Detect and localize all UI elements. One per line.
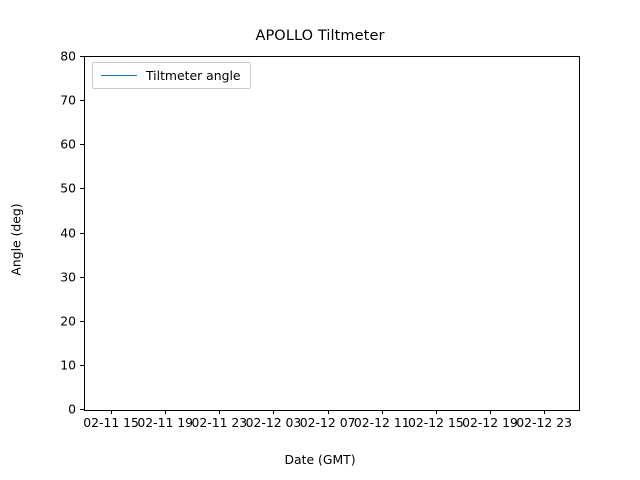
x-tick-mark bbox=[165, 410, 166, 414]
x-tick-mark bbox=[544, 410, 545, 414]
x-tick-mark bbox=[273, 410, 274, 414]
chart-title: APOLLO Tiltmeter bbox=[0, 28, 640, 44]
x-tick-label: 02-12 07 bbox=[300, 415, 356, 430]
y-axis-label: Angle (deg) bbox=[9, 140, 24, 340]
y-tick-mark bbox=[80, 100, 84, 101]
y-tick-label: 50 bbox=[60, 181, 76, 196]
x-tick-label: 02-12 11 bbox=[354, 415, 410, 430]
y-tick-label: 30 bbox=[60, 269, 76, 284]
y-tick-label: 80 bbox=[60, 49, 76, 64]
y-tick-mark bbox=[80, 365, 84, 366]
chart-legend: Tiltmeter angle bbox=[92, 62, 251, 89]
x-tick-label: 02-12 03 bbox=[246, 415, 302, 430]
x-tick-label: 02-12 19 bbox=[462, 415, 518, 430]
y-axis-tick-labels: 01020304050607080 bbox=[40, 0, 76, 480]
x-tick-label: 02-12 23 bbox=[516, 415, 572, 430]
y-tick-mark bbox=[80, 144, 84, 145]
y-tick-mark bbox=[80, 233, 84, 234]
plot-axes-frame bbox=[84, 56, 580, 411]
x-tick-mark bbox=[490, 410, 491, 414]
y-tick-mark bbox=[80, 277, 84, 278]
y-tick-label: 20 bbox=[60, 313, 76, 328]
x-tick-label: 02-11 23 bbox=[191, 415, 247, 430]
y-tick-label: 60 bbox=[60, 137, 76, 152]
legend-line-swatch bbox=[101, 75, 137, 76]
legend-entry-label: Tiltmeter angle bbox=[146, 68, 241, 83]
y-tick-label: 0 bbox=[68, 402, 76, 417]
x-tick-mark bbox=[328, 410, 329, 414]
x-tick-label: 02-11 19 bbox=[137, 415, 193, 430]
y-tick-mark bbox=[80, 409, 84, 410]
x-tick-label: 02-11 15 bbox=[83, 415, 139, 430]
y-tick-label: 40 bbox=[60, 225, 76, 240]
x-tick-label: 02-12 15 bbox=[408, 415, 464, 430]
x-tick-mark bbox=[219, 410, 220, 414]
x-tick-mark bbox=[436, 410, 437, 414]
y-tick-mark bbox=[80, 188, 84, 189]
matplotlib-figure: APOLLO Tiltmeter 01020304050607080 02-11… bbox=[0, 0, 640, 480]
x-axis-label: Date (GMT) bbox=[0, 452, 640, 467]
y-tick-mark bbox=[80, 321, 84, 322]
y-tick-mark bbox=[80, 56, 84, 57]
y-tick-label: 70 bbox=[60, 93, 76, 108]
y-tick-label: 10 bbox=[60, 357, 76, 372]
x-tick-mark bbox=[382, 410, 383, 414]
x-tick-mark bbox=[111, 410, 112, 414]
